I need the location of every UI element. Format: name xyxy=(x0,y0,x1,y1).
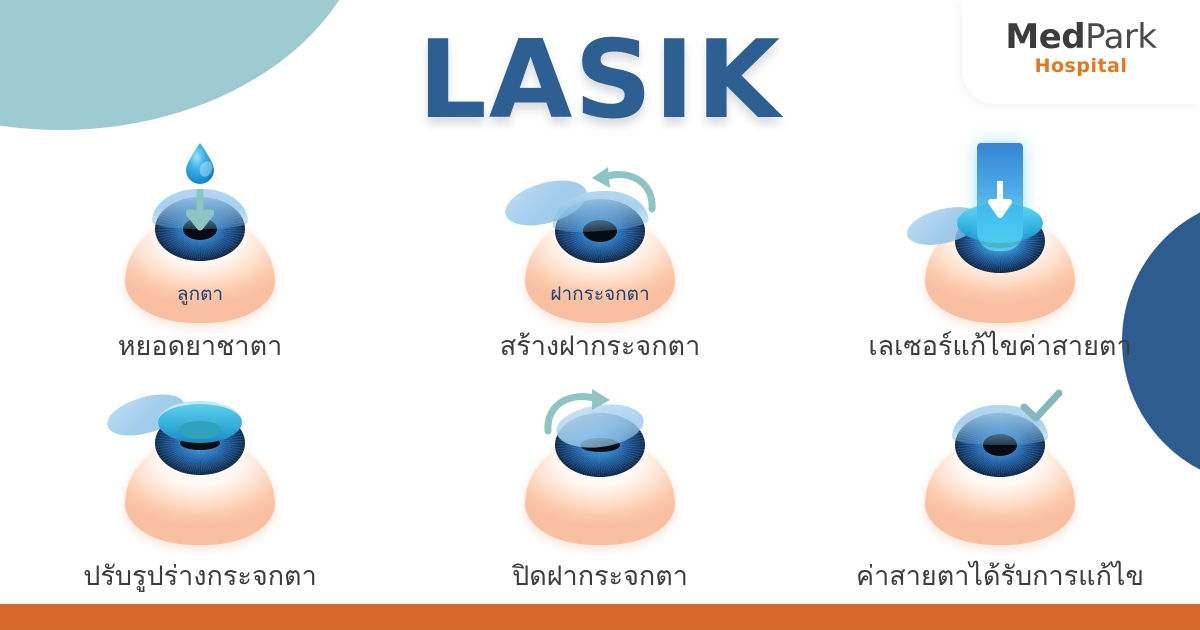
step-6: ค่าสายตาได้รับการแก้ไข xyxy=(800,362,1200,592)
step-2-caption: สร้างฝากระจกตา xyxy=(500,331,701,362)
page-title: LASIK xyxy=(0,24,1200,137)
step-2-inner-label: ฝากระจกตา xyxy=(550,279,649,309)
arrow-down-icon xyxy=(186,189,214,233)
step-1-inner-label: ลูกตา xyxy=(177,279,223,309)
infographic-canvas: MedPark Hospital LASIK xyxy=(0,0,1200,630)
decoration-orange-bar xyxy=(0,604,1200,630)
droplet-icon xyxy=(183,141,217,185)
steps-grid: ลูกตา หยอดยาชาตา ฝา xyxy=(0,130,1200,600)
step-4: ปรับรูปร่างกระจกตา xyxy=(0,362,400,592)
step-3-illustration xyxy=(870,137,1130,327)
step-2: ฝากระจกตา สร้างฝากระจกตา xyxy=(400,130,800,362)
step-1-caption: หยอดยาชาตา xyxy=(118,331,283,362)
step-4-caption: ปรับรูปร่างกระจกตา xyxy=(83,561,316,592)
step-5: ปิดฝากระจกตา xyxy=(400,362,800,592)
step-4-illustration xyxy=(70,389,330,549)
step-2-illustration: ฝากระจกตา xyxy=(470,137,730,327)
step-1: ลูกตา หยอดยาชาตา xyxy=(0,130,400,362)
step-6-illustration xyxy=(870,389,1130,549)
reshaped-cornea-inner xyxy=(178,421,222,439)
step-5-illustration xyxy=(470,389,730,549)
arrow-down-white-icon xyxy=(987,179,1013,219)
curved-arrow-right-icon xyxy=(542,389,628,435)
curved-arrow-left-icon xyxy=(574,165,660,213)
check-icon xyxy=(1020,389,1064,425)
step-6-caption: ค่าสายตาได้รับการแก้ไข xyxy=(856,561,1144,592)
step-1-illustration: ลูกตา xyxy=(70,137,330,327)
step-5-caption: ปิดฝากระจกตา xyxy=(512,561,688,592)
step-3-caption: เลเซอร์แก้ไขค่าสายตา xyxy=(868,331,1131,362)
step-3: เลเซอร์แก้ไขค่าสายตา xyxy=(800,130,1200,362)
